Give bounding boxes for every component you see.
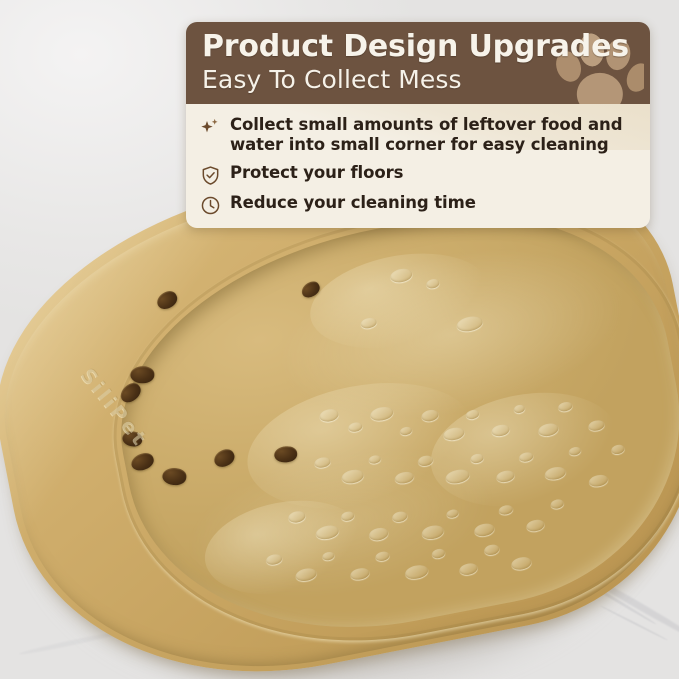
shield-check-icon — [200, 165, 221, 186]
list-item: Protect your floors — [200, 163, 636, 186]
product-image-scene: SiliPet Product Design Upgrades Easy To … — [0, 0, 679, 679]
card-subtitle: Easy To Collect Mess — [202, 66, 634, 94]
list-item-text: Collect small amounts of leftover food a… — [230, 115, 636, 155]
sparkles-icon — [200, 117, 221, 138]
pet-feeding-mat: SiliPet — [0, 150, 679, 679]
list-item: Collect small amounts of leftover food a… — [200, 115, 636, 155]
list-item-text: Protect your floors — [230, 163, 403, 183]
list-item: Reduce your cleaning time — [200, 193, 636, 216]
info-card-body: Collect small amounts of leftover food a… — [186, 104, 650, 227]
list-item-text: Reduce your cleaning time — [230, 193, 476, 213]
card-title: Product Design Upgrades — [202, 31, 634, 63]
info-card-header: Product Design Upgrades Easy To Collect … — [186, 22, 650, 104]
info-card: Product Design Upgrades Easy To Collect … — [186, 22, 650, 228]
clock-icon — [200, 195, 221, 216]
